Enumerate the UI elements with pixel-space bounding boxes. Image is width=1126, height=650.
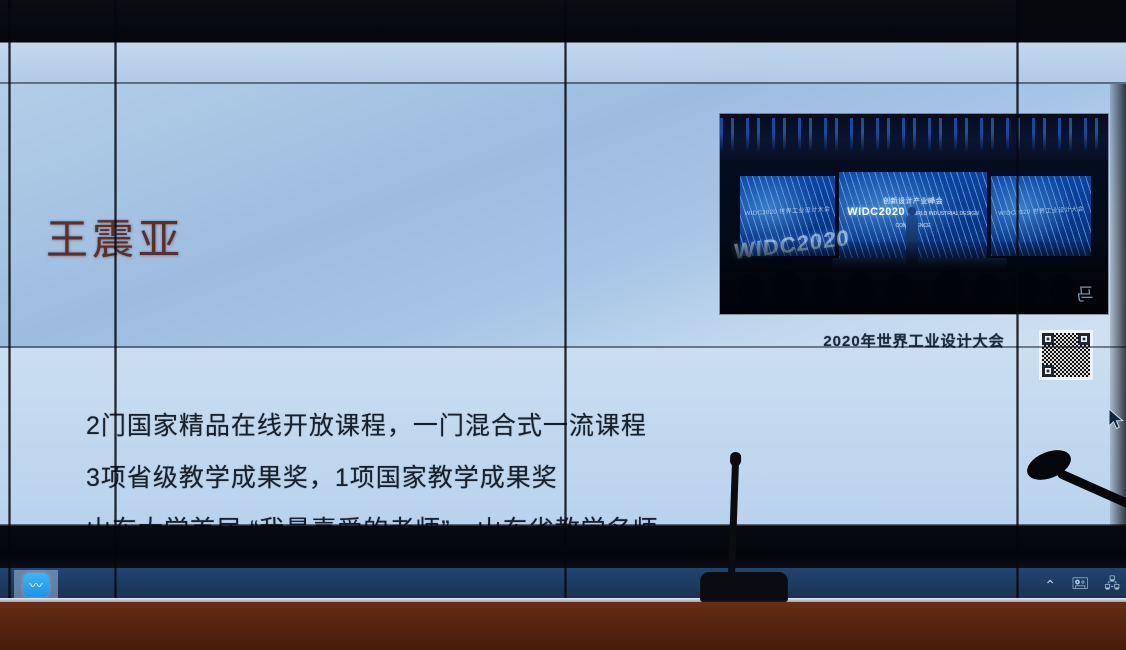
- windows-taskbar[interactable]: 〰 ⌃ 🖭 🖧: [0, 568, 1126, 602]
- audience-head: [1012, 272, 1040, 304]
- network-icon[interactable]: 🖧: [1104, 573, 1120, 597]
- usb-device-icon[interactable]: 🖭: [1072, 573, 1088, 597]
- qr-finder-top-right: [1078, 333, 1090, 345]
- screen-black-band: [0, 526, 1126, 568]
- conference-room-scene: 王震亚 2门国家精品在线开放课程，一门混合式一流课程 3项省级教学成果奖，1项国…: [0, 0, 1126, 650]
- bullet-line-3: 山东大学首届 “我最喜爱的老师”，山东省教学名师: [86, 504, 966, 526]
- photo-led-left-text: WIDC2020 世界工业设计大会: [740, 204, 835, 218]
- room-ceiling-dark-area: [0, 0, 1126, 42]
- video-wall-display: 王震亚 2门国家精品在线开放课程，一门混合式一流课程 3项省级教学成果奖，1项国…: [0, 42, 1126, 526]
- qr-code-icon: [1039, 330, 1093, 380]
- room-right-shadow-strip: [1110, 84, 1126, 526]
- microphone-base: [700, 572, 788, 602]
- bullet-line-2: 3项省级教学成果奖，1项国家教学成果奖: [86, 452, 966, 504]
- audience-head: [934, 270, 964, 304]
- photo-ceiling-truss-lights: [720, 118, 1108, 152]
- audience-head: [886, 274, 912, 304]
- photo-led-right-text: WIDC2020 世界工业设计大会: [991, 203, 1091, 217]
- chevron-up-icon[interactable]: ⌃: [1044, 577, 1056, 594]
- audience-head: [974, 274, 1000, 304]
- qr-code-pattern: [1042, 333, 1090, 377]
- taskbar-app-button[interactable]: 〰: [14, 570, 58, 600]
- audience-head: [812, 276, 836, 304]
- wooden-desk: [0, 600, 1126, 650]
- photo-led-center-title: 创新设计产业峰会: [839, 196, 987, 206]
- photo-led-center-subtitle-main: WIDC2020: [847, 206, 905, 218]
- qr-finder-top-left: [1042, 333, 1054, 345]
- conference-photo: WIDC2020 世界工业设计大会 创新设计产业峰会 WIDC2020 WORL…: [720, 114, 1108, 314]
- presentation-slide: 王震亚 2门国家精品在线开放课程，一门混合式一流课程 3项省级教学成果奖，1项国…: [0, 42, 1126, 526]
- media-player-icon[interactable]: 〰: [23, 573, 49, 597]
- audience-head: [738, 274, 764, 304]
- presenter-name: 王震亚: [46, 218, 184, 262]
- qr-finder-bottom-left: [1042, 365, 1054, 377]
- system-tray[interactable]: ⌃ 🖭 🖧: [1044, 568, 1120, 602]
- bullet-line-1: 2门国家精品在线开放课程，一门混合式一流课程: [86, 400, 966, 452]
- audience-head: [846, 272, 874, 304]
- desk-front-edge: [0, 598, 1126, 602]
- photo-corner-logo: 马: [1072, 284, 1098, 306]
- audience-head: [772, 270, 802, 304]
- slide-bullet-list: 2门国家精品在线开放课程，一门混合式一流课程 3项省级教学成果奖，1项国家教学成…: [86, 400, 966, 526]
- room-right-dark-area: [1016, 0, 1126, 42]
- slide-top-haze: [0, 42, 1126, 82]
- photo-audience: [720, 242, 1108, 314]
